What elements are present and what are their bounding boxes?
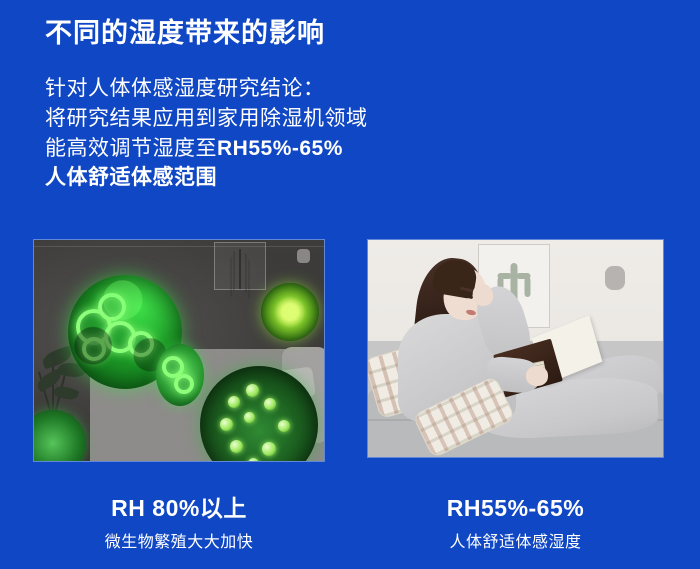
woman-hand-holding-book — [526, 366, 548, 386]
cactus-arm — [498, 273, 512, 279]
microbe-cell — [128, 331, 154, 357]
body-line-1: 针对人体体感湿度研究结论： — [45, 74, 368, 104]
microbe-cell — [82, 337, 106, 361]
microbe-cell — [174, 374, 194, 394]
microbe-cluster-edge — [156, 344, 204, 406]
caption-subtitle: 人体舒适体感湿度 — [367, 528, 664, 552]
body-line-3: 能高效调节湿度至RH55%-65% — [45, 134, 368, 164]
body-line-4: 人体舒适体感范围 — [45, 163, 368, 193]
caption-high-humidity: RH 80%以上 微生物繁殖大大加快 — [33, 495, 325, 552]
microbe-cell — [104, 321, 136, 353]
humidity-range-value: RH55%-65% — [217, 137, 343, 160]
caption-title: RH55%-65% — [367, 495, 664, 521]
microbe-dot — [246, 384, 259, 397]
microbe-dot — [262, 442, 276, 456]
wall-speaker-icon — [605, 266, 625, 290]
microbe-dot — [278, 420, 290, 432]
microbe-cell — [98, 293, 126, 321]
page-title: 不同的湿度带来的影响 — [45, 17, 325, 51]
microbe-dot — [230, 440, 243, 453]
wall-art-frame-icon — [214, 242, 266, 290]
microbe-dot — [244, 412, 255, 423]
branch-artwork-icon — [239, 249, 241, 289]
caption-subtitle: 微生物繁殖大大加快 — [33, 528, 325, 552]
wall-speaker-icon — [297, 249, 310, 263]
microbe-dot — [228, 396, 240, 408]
microbe-dot — [220, 418, 233, 431]
microbe-dot — [248, 458, 259, 462]
body-line-3-prefix: 能高效调节湿度至 — [45, 137, 217, 160]
dark-living-room-illustration — [34, 240, 324, 461]
microbe-cell — [76, 309, 112, 345]
ceiling-line — [34, 246, 324, 247]
photo-high-humidity — [33, 239, 325, 462]
body-copy: 针对人体体感湿度研究结论： 将研究结果应用到家用除湿机领域 能高效调节湿度至RH… — [45, 74, 368, 193]
bright-living-room-illustration — [368, 240, 663, 457]
caption-comfort-humidity: RH55%-65% 人体舒适体感湿度 — [367, 495, 664, 552]
photo-comfort-humidity — [367, 239, 664, 458]
microbe-dot — [264, 398, 276, 410]
cactus-arm — [517, 273, 531, 279]
microbe-sphere-small — [261, 283, 319, 341]
body-line-2: 将研究结果应用到家用除湿机领域 — [45, 104, 368, 134]
caption-title: RH 80%以上 — [33, 495, 325, 521]
